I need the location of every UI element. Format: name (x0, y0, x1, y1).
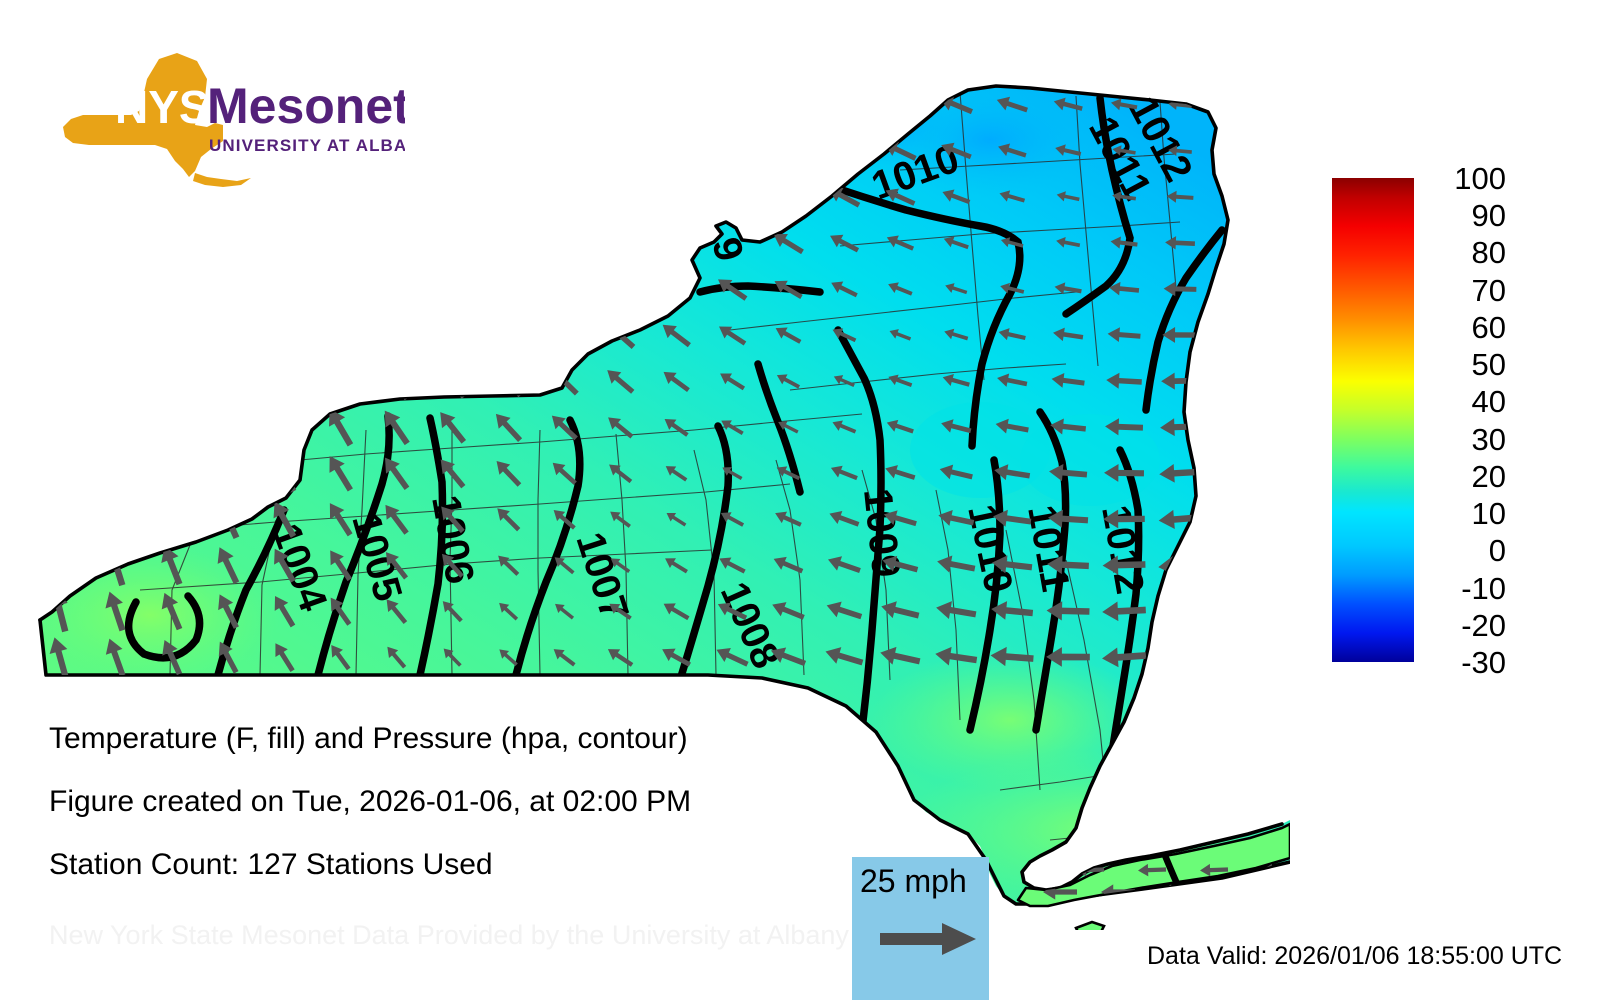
wind-arrow-icon (432, 313, 472, 358)
colorbar-tick-80: 80 (1422, 237, 1506, 268)
wind-arrow-icon (321, 358, 359, 405)
wind-arrow-icon (46, 495, 74, 542)
wind-arrow-icon (101, 403, 131, 450)
wind-arrow-icon (46, 542, 75, 589)
colorbar-tick-20: 20 (1422, 461, 1506, 492)
wind-arrow-icon (824, 135, 864, 168)
wind-arrow-icon (823, 87, 865, 122)
wind-arrow-icon (101, 449, 131, 496)
wind-arrow-icon (266, 404, 302, 451)
colorbar-gradient-swatch (1332, 178, 1414, 662)
wind-arrow-icon (377, 312, 416, 358)
colorbar-tick-neg10: -10 (1422, 573, 1506, 604)
wind-arrow-icon (156, 357, 188, 405)
wind-arrow-icon (211, 357, 245, 405)
colorbar-tick-10: 10 (1422, 498, 1506, 529)
colorbar-tick-30: 30 (1422, 424, 1506, 455)
wind-arrow-icon (211, 450, 245, 497)
wind-arrow-icon (101, 495, 132, 542)
wind-arrow-icon (488, 314, 528, 356)
wind-arrow-icon (211, 311, 244, 359)
wind-arrow-icon (266, 311, 302, 359)
caption-title: Temperature (F, fill) and Pressure (hpa,… (49, 722, 688, 756)
wind-arrow-icon (377, 359, 415, 404)
colorbar-tick-50: 50 (1422, 349, 1506, 380)
colorbar-tick-70: 70 (1422, 275, 1506, 306)
caption-station-count: Station Count: 127 Stations Used (49, 848, 493, 882)
wind-speed-legend: 25 mph (852, 857, 989, 1000)
colorbar-tick-neg20: -20 (1422, 610, 1506, 641)
colorbar-tick-0: 0 (1422, 535, 1506, 566)
wind-arrow-icon (266, 357, 302, 405)
caption-created: Figure created on Tue, 2026-01-06, at 02… (49, 785, 691, 819)
colorbar-tick-40: 40 (1422, 386, 1506, 417)
wind-arrow-icon (156, 403, 188, 451)
wind-arrow-icon (157, 311, 188, 358)
wind-arrow-icon (544, 315, 583, 354)
colorbar-tick-60: 60 (1422, 312, 1506, 343)
colorbar-tick-90: 90 (1422, 200, 1506, 231)
wind-arrow-icon (211, 403, 245, 451)
wind-arrow-icon (768, 180, 808, 214)
colorbar-tick-labels: 1009080706050403020100-10-20-30 (1422, 164, 1572, 676)
wind-arrow-icon (1217, 884, 1251, 899)
colorbar-tick-neg30: -30 (1422, 647, 1506, 678)
colorbar-tick-100: 100 (1422, 163, 1506, 194)
caption-attribution: New York State Mesonet Data Provided by … (49, 918, 849, 952)
wind-arrow-icon (156, 496, 189, 542)
data-valid-timestamp: Data Valid: 2026/01/06 18:55:00 UTC (1147, 942, 1562, 970)
wind-arrow-icon (156, 449, 189, 496)
wind-arrow-icon (880, 919, 978, 959)
wind-arrow-icon (880, 89, 920, 120)
wind-legend-label: 25 mph (860, 863, 967, 899)
wind-arrow-icon (321, 311, 359, 359)
temperature-colorbar: 1009080706050403020100-10-20-30 (1332, 178, 1582, 662)
